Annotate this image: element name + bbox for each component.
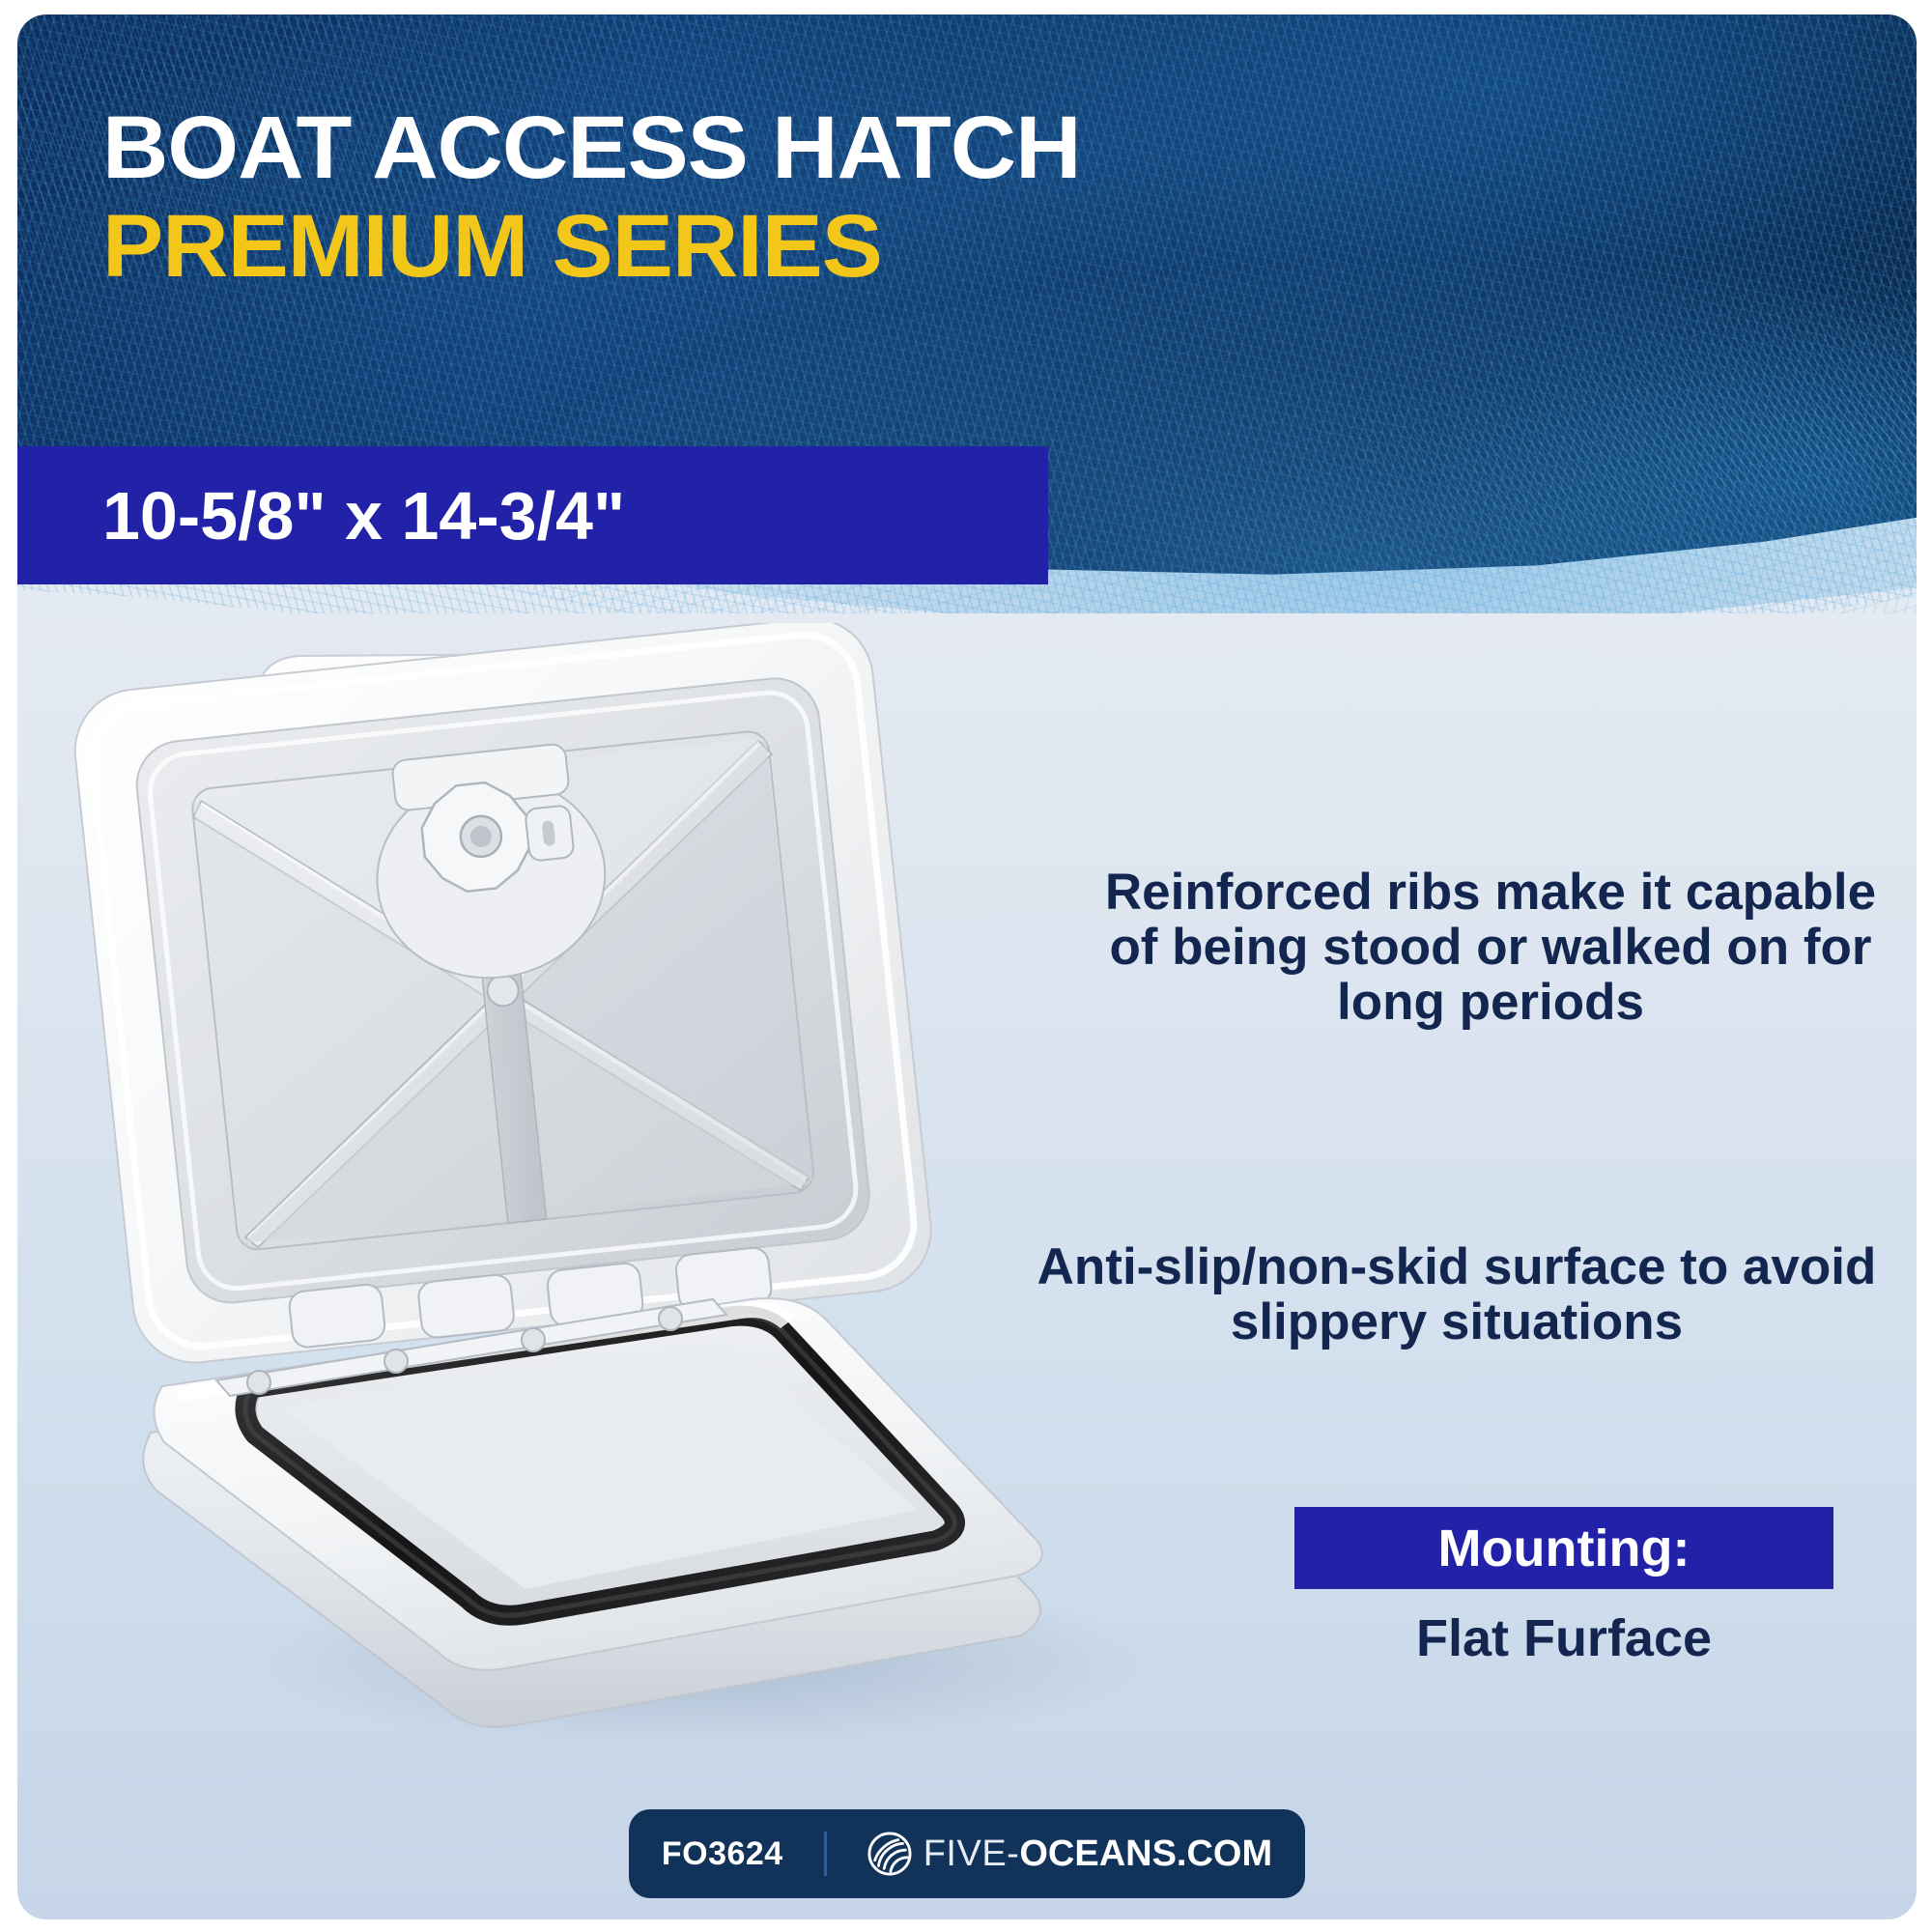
infographic-card: BOAT ACCESS HATCH PREMIUM SERIES 10-5/8"… xyxy=(17,14,1917,1919)
hinge-pin xyxy=(247,1371,270,1394)
hinge-pin xyxy=(659,1307,682,1330)
product-sku: FO3624 xyxy=(662,1835,783,1873)
hinge-pin xyxy=(384,1350,408,1373)
brand-logo[interactable]: FIVE- OCEANS.COM xyxy=(867,1832,1272,1876)
feature-callout-anti-slip: Anti-slip/non-skid surface to avoid slip… xyxy=(1022,1239,1891,1350)
product-image xyxy=(37,623,1312,1773)
hinge-tab xyxy=(417,1273,516,1339)
page-title: BOAT ACCESS HATCH PREMIUM SERIES xyxy=(102,103,1052,291)
hinge-tab xyxy=(288,1283,386,1349)
mounting-label: Mounting: xyxy=(1438,1519,1690,1578)
brand-name-light: FIVE- xyxy=(923,1833,1020,1875)
dimension-badge: 10-5/8" x 14-3/4" xyxy=(17,446,1048,584)
footer-bar: FO3624 FIVE- OCEANS.COM xyxy=(629,1809,1305,1898)
shell-icon xyxy=(867,1832,912,1876)
brand-name-bold: OCEANS.COM xyxy=(1019,1833,1272,1875)
footer-divider xyxy=(824,1832,827,1876)
title-secondary: PREMIUM SERIES xyxy=(102,202,1081,291)
dimension-text: 10-5/8" x 14-3/4" xyxy=(102,477,625,554)
title-primary: BOAT ACCESS HATCH xyxy=(102,103,1081,192)
hatch-lid-body xyxy=(69,623,937,1371)
mounting-badge: Mounting: xyxy=(1294,1507,1833,1589)
feature-callout-reinforced-ribs: Reinforced ribs make it capable of being… xyxy=(1104,865,1877,1031)
hinge-pin xyxy=(522,1328,545,1351)
mounting-value: Flat Furface xyxy=(1294,1608,1833,1668)
